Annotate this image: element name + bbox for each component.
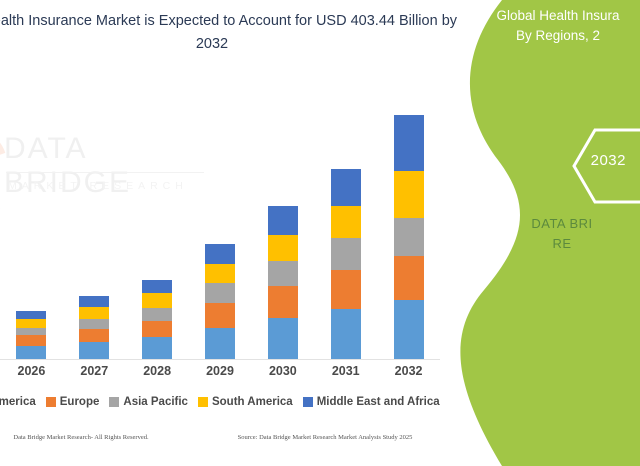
bar-segment bbox=[16, 335, 46, 345]
bar-segment bbox=[268, 286, 298, 317]
panel-brand: DATA BRI RE bbox=[440, 214, 640, 254]
bar-column bbox=[126, 105, 189, 359]
stacked-bar bbox=[331, 169, 361, 359]
panel-title: Global Health Insura By Regions, 2 bbox=[440, 6, 640, 46]
bar-column bbox=[189, 105, 252, 359]
bar-segment bbox=[79, 342, 109, 359]
bar-segment bbox=[142, 321, 172, 337]
stacked-bar bbox=[394, 115, 424, 359]
x-axis-label: 2026 bbox=[0, 364, 63, 378]
legend-item[interactable]: South America bbox=[198, 396, 293, 408]
bar-segment bbox=[331, 270, 361, 309]
stacked-bar bbox=[268, 206, 298, 359]
bar-segment bbox=[394, 171, 424, 218]
x-axis-label: 2027 bbox=[63, 364, 126, 378]
stacked-bar bbox=[79, 296, 109, 359]
bar-segment bbox=[16, 328, 46, 335]
bar-segment bbox=[142, 280, 172, 293]
bar-segment bbox=[268, 261, 298, 286]
bar-segment bbox=[79, 296, 109, 307]
bar-group bbox=[0, 105, 440, 359]
panel-brand-line2: RE bbox=[552, 236, 571, 251]
legend-swatch-icon bbox=[198, 397, 208, 407]
bar-segment bbox=[331, 169, 361, 205]
bar-column bbox=[63, 105, 126, 359]
bar-segment bbox=[79, 307, 109, 319]
legend-swatch-icon bbox=[46, 397, 56, 407]
chart-infographic: al Health Insurance Market is Expected t… bbox=[0, 0, 640, 466]
x-axis-label: 2032 bbox=[377, 364, 440, 378]
legend-label: Asia Pacific bbox=[123, 396, 188, 408]
bar-segment bbox=[205, 303, 235, 327]
bar-segment bbox=[331, 309, 361, 359]
bar-segment bbox=[205, 283, 235, 303]
bar-segment bbox=[394, 256, 424, 301]
bar-segment bbox=[79, 329, 109, 342]
bar-segment bbox=[16, 311, 46, 319]
footer-source: Source: Data Bridge Market Research Mark… bbox=[200, 434, 450, 441]
x-axis-label: 2030 bbox=[251, 364, 314, 378]
bar-column bbox=[251, 105, 314, 359]
bar-segment bbox=[394, 115, 424, 171]
panel-title-line1: Global Health Insura bbox=[496, 8, 619, 23]
legend-swatch-icon bbox=[109, 397, 119, 407]
legend-label: South America bbox=[212, 396, 293, 408]
chart-legend: AmericaEuropeAsia PacificSouth AmericaMi… bbox=[0, 396, 468, 408]
bar-column bbox=[377, 105, 440, 359]
legend-item[interactable]: America bbox=[0, 396, 36, 408]
x-axis-labels: 2026202720282029203020312032 bbox=[0, 364, 440, 378]
bar-segment bbox=[205, 264, 235, 284]
bar-column bbox=[314, 105, 377, 359]
x-axis-label: 2028 bbox=[126, 364, 189, 378]
plot-area bbox=[0, 105, 440, 360]
stacked-bar bbox=[205, 244, 235, 359]
bar-segment bbox=[79, 319, 109, 329]
x-axis-line bbox=[0, 359, 440, 360]
bar-segment bbox=[331, 206, 361, 239]
bar-segment bbox=[331, 238, 361, 270]
x-axis-label: 2029 bbox=[189, 364, 252, 378]
footer-copyright: Data Bridge Market Research- All Rights … bbox=[0, 434, 206, 441]
legend-label: America bbox=[0, 396, 36, 408]
badge-year-label: 2032 bbox=[591, 152, 626, 169]
x-axis-label: 2031 bbox=[314, 364, 377, 378]
stacked-bar bbox=[16, 311, 46, 359]
bar-segment bbox=[394, 218, 424, 256]
bar-segment bbox=[16, 346, 46, 359]
bar-segment bbox=[142, 337, 172, 359]
bar-segment bbox=[142, 308, 172, 321]
legend-label: Europe bbox=[60, 396, 100, 408]
bar-segment bbox=[205, 244, 235, 264]
legend-item[interactable]: Europe bbox=[46, 396, 100, 408]
bar-segment bbox=[394, 300, 424, 359]
bar-segment bbox=[142, 293, 172, 308]
bar-column bbox=[0, 105, 63, 359]
bar-segment bbox=[268, 206, 298, 234]
bar-segment bbox=[268, 318, 298, 359]
legend-label: Middle East and Africa bbox=[317, 396, 440, 408]
legend-item[interactable]: Middle East and Africa bbox=[303, 396, 440, 408]
chart-panel: al Health Insurance Market is Expected t… bbox=[0, 0, 470, 466]
bar-segment bbox=[268, 235, 298, 262]
legend-swatch-icon bbox=[303, 397, 313, 407]
stacked-bar bbox=[142, 280, 172, 359]
chart-title: al Health Insurance Market is Expected t… bbox=[0, 10, 470, 56]
bar-segment bbox=[205, 328, 235, 359]
bar-segment bbox=[16, 319, 46, 328]
panel-brand-line1: DATA BRI bbox=[531, 216, 592, 231]
legend-item[interactable]: Asia Pacific bbox=[109, 396, 188, 408]
panel-title-line2: By Regions, 2 bbox=[476, 26, 640, 46]
